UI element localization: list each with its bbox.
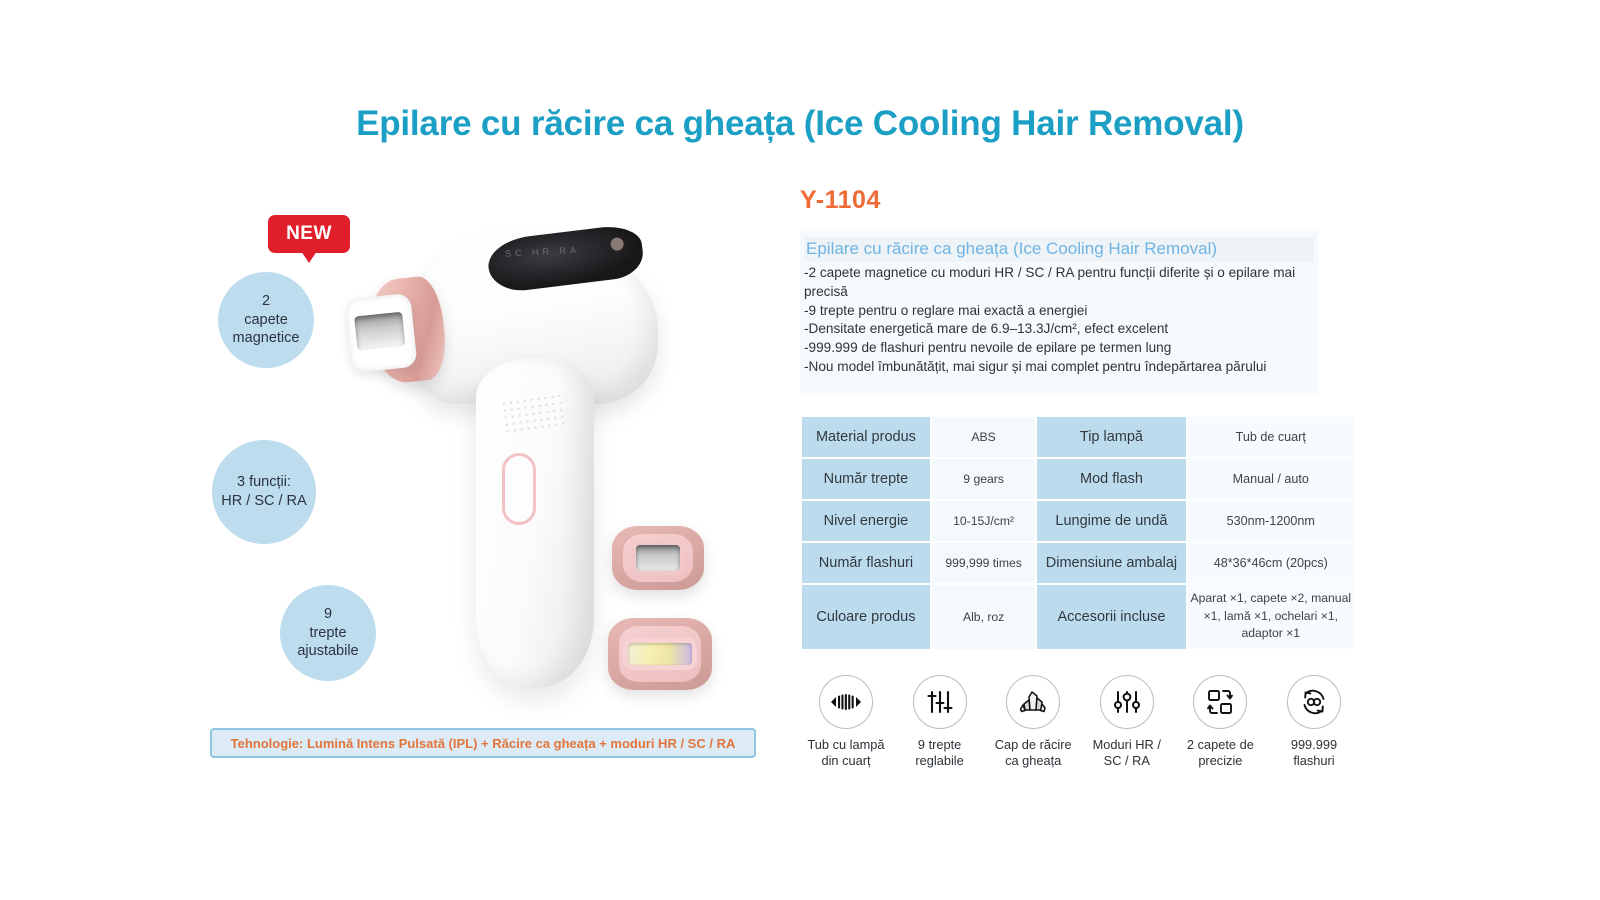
table-row: Număr trepte 9 gears Mod flash Manual / … <box>802 459 1354 499</box>
spec-key: Material produs <box>802 417 930 457</box>
specifications-table: Material produs ABS Tip lampă Tub de cua… <box>800 415 1356 651</box>
spec-value: 999,999 times <box>932 543 1036 583</box>
product-details-panel: Y-1104 Epilare cu răcire ca gheața (Ice … <box>800 186 1380 769</box>
spec-key: Dimensiune ambalaj <box>1037 543 1185 583</box>
swap-heads-icon <box>1193 675 1247 729</box>
spec-value: 530nm-1200nm <box>1188 501 1354 541</box>
feature-item: Tub cu lampă din cuarț <box>800 675 892 770</box>
spec-value: Alb, roz <box>932 585 1036 649</box>
table-row: Număr flashuri 999,999 times Dimensiune … <box>802 543 1354 583</box>
spec-value: Manual / auto <box>1188 459 1354 499</box>
spec-key: Culoare produs <box>802 585 930 649</box>
feature-label: 999.999 flashuri <box>1268 737 1360 770</box>
info-bubble-functions: 3 funcții: HR / SC / RA <box>212 440 316 544</box>
info-bubble-magnetic-heads: 2 capete magnetice <box>218 272 314 368</box>
spec-value: 48*36*46cm (20pcs) <box>1188 543 1354 583</box>
feature-label: 2 capete de precizie <box>1174 737 1266 770</box>
device-flash-window <box>344 293 417 373</box>
product-infographic-page: Epilare cu răcire ca gheața (Ice Cooling… <box>0 0 1600 900</box>
spec-value: 9 gears <box>932 459 1036 499</box>
spec-key: Număr flashuri <box>802 543 930 583</box>
feature-item: 9 trepte reglabile <box>894 675 986 770</box>
spec-key: Tip lampă <box>1037 417 1185 457</box>
ice-crystal-icon <box>1006 675 1060 729</box>
accessory-head-small <box>612 526 704 590</box>
description-title: Epilare cu răcire ca gheața (Ice Cooling… <box>804 237 1314 262</box>
new-badge: NEW <box>268 215 350 253</box>
mode-toggle-icon <box>1100 675 1154 729</box>
device-trigger-button <box>502 453 536 525</box>
infinity-cycle-icon <box>1287 675 1341 729</box>
description-line: -2 capete magnetice cu moduri HR / SC / … <box>804 264 1314 302</box>
page-title: Epilare cu răcire ca gheața (Ice Cooling… <box>0 104 1600 144</box>
accessory-head-small-window <box>636 545 680 571</box>
product-device-illustration: SC HR RA <box>330 208 690 728</box>
sliders-icon <box>913 675 967 729</box>
feature-item: Moduri HR / SC / RA <box>1081 675 1173 770</box>
spec-key: Accesorii incluse <box>1037 585 1185 649</box>
spec-key: Lungime de undă <box>1037 501 1185 541</box>
description-line: -Densitate energetică mare de 6.9–13.3J/… <box>804 320 1314 339</box>
spec-value: Tub de cuarț <box>1188 417 1354 457</box>
feature-item: 2 capete de precizie <box>1174 675 1266 770</box>
model-code: Y-1104 <box>800 186 1380 215</box>
feature-label: Cap de răcire ca gheața <box>987 737 1079 770</box>
feature-label: Tub cu lampă din cuarț <box>800 737 892 770</box>
description-line: -999.999 de flashuri pentru nevoile de e… <box>804 339 1314 358</box>
device-power-dot <box>610 237 624 251</box>
feature-item: 999.999 flashuri <box>1268 675 1360 770</box>
description-line: -Nou model îmbunătățit, mai sigur și mai… <box>804 358 1314 377</box>
device-screen-glyphs: SC HR RA <box>505 245 580 259</box>
spec-value: Aparat ×1, capete ×2, manual ×1, lamă ×1… <box>1188 585 1354 649</box>
spec-value: 10-15J/cm² <box>932 501 1036 541</box>
spec-key: Mod flash <box>1037 459 1185 499</box>
description-box: Epilare cu răcire ca gheața (Ice Cooling… <box>800 229 1318 395</box>
description-bullet-list: -2 capete magnetice cu moduri HR / SC / … <box>804 264 1314 377</box>
spec-key: Nivel energie <box>802 501 930 541</box>
table-row: Culoare produs Alb, roz Accesorii inclus… <box>802 585 1354 649</box>
technology-banner: Tehnologie: Lumină Intens Pulsată (IPL) … <box>210 728 756 758</box>
info-bubble-levels: 9 trepte ajustabile <box>280 585 376 681</box>
accessory-head-large <box>608 618 712 690</box>
spec-value: ABS <box>932 417 1036 457</box>
table-row: Nivel energie 10-15J/cm² Lungime de undă… <box>802 501 1354 541</box>
feature-icon-row: Tub cu lampă din cuarț <box>800 675 1360 770</box>
spec-key: Număr trepte <box>802 459 930 499</box>
quartz-lamp-icon <box>819 675 873 729</box>
description-line: -9 trepte pentru o reglare mai exactă a … <box>804 302 1314 321</box>
table-row: Material produs ABS Tip lampă Tub de cua… <box>802 417 1354 457</box>
feature-label: Moduri HR / SC / RA <box>1081 737 1173 770</box>
product-image-panel: SC HR RA NEW 2 capete magnetice 3 funcți… <box>200 190 780 770</box>
feature-label: 9 trepte reglabile <box>894 737 986 770</box>
accessory-head-large-window <box>628 643 692 665</box>
feature-item: Cap de răcire ca gheața <box>987 675 1079 770</box>
